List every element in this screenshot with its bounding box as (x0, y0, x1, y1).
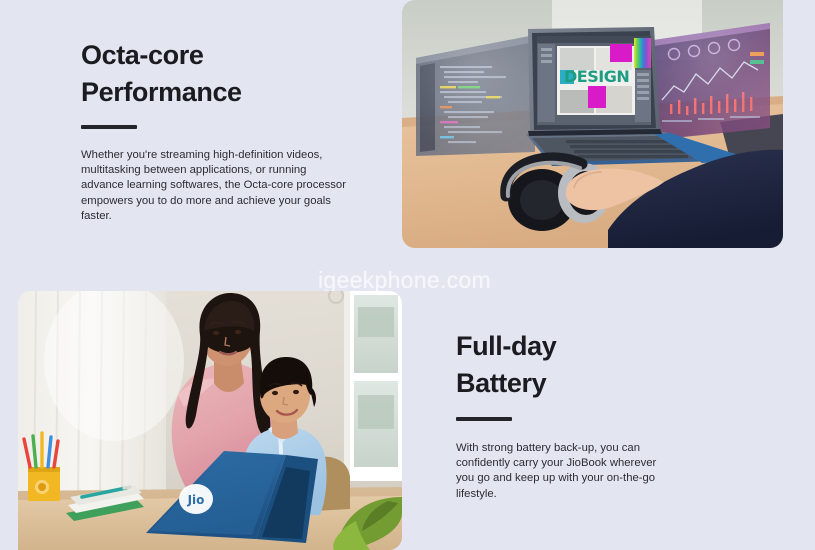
svg-text:DESIGN: DESIGN (564, 67, 629, 86)
feature-page: Octa-core Performance Whether you're str… (0, 0, 815, 550)
section-octa-core-text: Octa-core Performance Whether you're str… (81, 37, 351, 224)
laptop-desk-photo: DESIGN (402, 0, 783, 248)
mother-child-photo: Jio (18, 291, 402, 550)
divider-octa-core (81, 125, 137, 129)
section-fullday-text: Full-day Battery With strong battery bac… (456, 328, 671, 502)
body-text-octa-core: Whether you're streaming high-definition… (81, 148, 351, 224)
mother-child-illustration: Jio (18, 291, 402, 550)
page-title-full-day-battery: Full-day Battery (456, 328, 671, 402)
divider-full-day-battery (456, 417, 512, 421)
watermark: igeekphone.com (318, 267, 491, 294)
svg-text:Jio: Jio (187, 493, 205, 507)
body-text-full-day-battery: With strong battery back-up, you can con… (456, 441, 671, 502)
page-title-octa-core: Octa-core Performance (81, 37, 351, 111)
laptop-desk-illustration: DESIGN (402, 0, 783, 248)
